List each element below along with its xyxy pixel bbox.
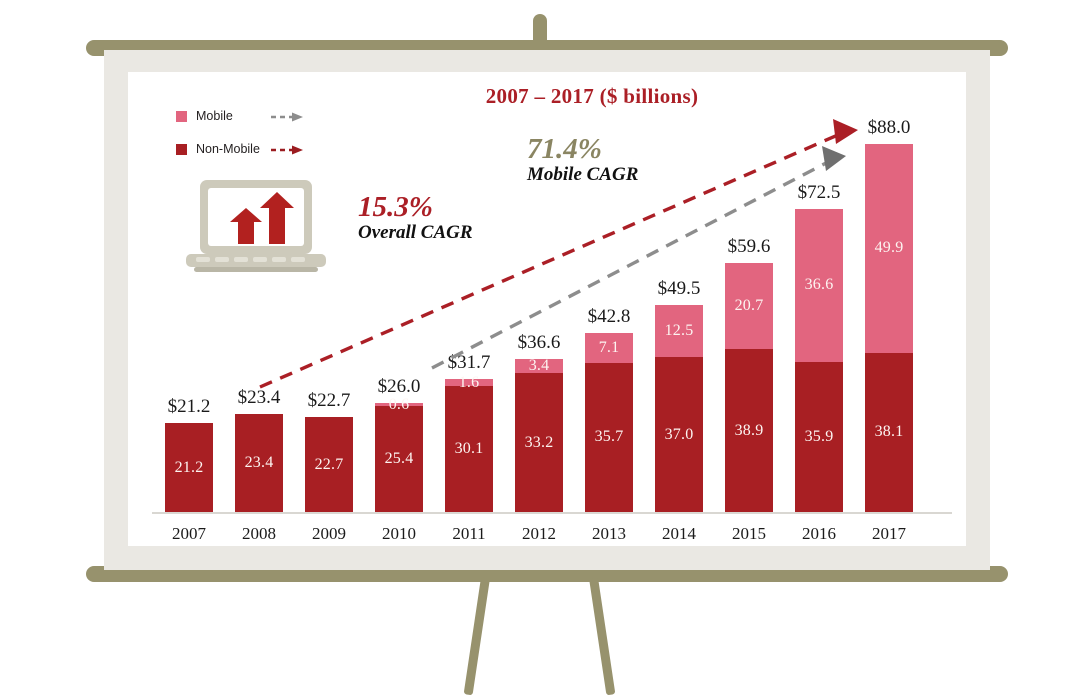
bar-value-mobile-2014: 12.5	[665, 322, 694, 340]
bar-value-non-mobile-2011: 30.1	[455, 440, 484, 458]
slide-canvas: Mobile Non-Mobile	[0, 0, 1080, 698]
bar-segment-non-mobile-2015[interactable]: 38.9	[725, 349, 773, 512]
bar-value-mobile-2016: 36.6	[805, 276, 834, 294]
bar-segment-non-mobile-2010[interactable]: 25.4	[375, 406, 423, 512]
x-axis-label-2012: 2012	[502, 524, 576, 544]
x-axis-label-2017: 2017	[852, 524, 926, 544]
x-axis-label-2009: 2009	[292, 524, 366, 544]
bar-segment-mobile-2011[interactable]: 1.6	[445, 379, 493, 386]
bar-group-2012[interactable]: $36.633.23.42012	[515, 359, 563, 512]
bar-segment-non-mobile-2007[interactable]: 21.2	[165, 423, 213, 512]
bar-segment-mobile-2015[interactable]: 20.7	[725, 263, 773, 350]
bar-segment-non-mobile-2013[interactable]: 35.7	[585, 363, 633, 512]
bar-group-2016[interactable]: $72.535.936.62016	[795, 209, 843, 512]
x-axis-label-2013: 2013	[572, 524, 646, 544]
x-axis-label-2016: 2016	[782, 524, 856, 544]
bar-value-non-mobile-2007: 21.2	[175, 459, 204, 477]
easel-leg-left	[464, 577, 490, 695]
bar-group-2007[interactable]: $21.221.22007	[165, 423, 213, 512]
bar-total-label-2016: $72.5	[778, 182, 860, 204]
bar-value-non-mobile-2012: 33.2	[525, 434, 554, 452]
bar-group-2008[interactable]: $23.423.42008	[235, 414, 283, 512]
bar-total-label-2014: $49.5	[638, 278, 720, 300]
bar-segment-mobile-2014[interactable]: 12.5	[655, 305, 703, 357]
bar-value-non-mobile-2009: 22.7	[315, 456, 344, 474]
bar-value-non-mobile-2014: 37.0	[665, 426, 694, 444]
bar-total-label-2015: $59.6	[708, 236, 790, 258]
bar-total-label-2012: $36.6	[498, 332, 580, 354]
bar-group-2011[interactable]: $31.730.11.62011	[445, 379, 493, 512]
bar-segment-non-mobile-2012[interactable]: 33.2	[515, 373, 563, 512]
bar-group-2010[interactable]: $26.025.40.62010	[375, 403, 423, 512]
bar-value-mobile-2010: 0.6	[389, 396, 410, 414]
bar-segment-mobile-2013[interactable]: 7.1	[585, 333, 633, 363]
easel-leg-right	[589, 577, 615, 695]
bar-total-label-2011: $31.7	[428, 352, 510, 374]
bar-value-non-mobile-2010: 25.4	[385, 450, 414, 468]
bar-segment-non-mobile-2009[interactable]: 22.7	[305, 417, 353, 512]
x-axis-label-2008: 2008	[222, 524, 296, 544]
x-axis-label-2010: 2010	[362, 524, 436, 544]
bar-group-2017[interactable]: $88.038.149.92017	[865, 144, 913, 512]
bar-group-2013[interactable]: $42.835.77.12013	[585, 333, 633, 512]
bar-segment-mobile-2012[interactable]: 3.4	[515, 359, 563, 373]
bar-value-mobile-2012: 3.4	[529, 357, 550, 375]
x-axis-label-2007: 2007	[152, 524, 226, 544]
bar-value-non-mobile-2016: 35.9	[805, 428, 834, 446]
x-axis-label-2014: 2014	[642, 524, 716, 544]
chart-plot-area: $21.221.22007$23.423.42008$22.722.72009$…	[128, 72, 966, 546]
bar-group-2014[interactable]: $49.537.012.52014	[655, 305, 703, 512]
x-axis-label-2011: 2011	[432, 524, 506, 544]
bar-segment-non-mobile-2017[interactable]: 38.1	[865, 353, 913, 512]
bar-value-mobile-2015: 20.7	[735, 297, 764, 315]
chart-baseline-axis	[152, 512, 952, 514]
bar-segment-mobile-2016[interactable]: 36.6	[795, 209, 843, 362]
bar-value-non-mobile-2017: 38.1	[875, 423, 904, 441]
bar-segment-non-mobile-2016[interactable]: 35.9	[795, 362, 843, 512]
bar-segment-non-mobile-2011[interactable]: 30.1	[445, 386, 493, 512]
bar-value-mobile-2017: 49.9	[875, 239, 904, 257]
bar-total-label-2017: $88.0	[848, 117, 930, 139]
bar-value-non-mobile-2008: 23.4	[245, 454, 274, 472]
bar-group-2009[interactable]: $22.722.72009	[305, 417, 353, 512]
bar-group-2015[interactable]: $59.638.920.72015	[725, 263, 773, 512]
bar-value-non-mobile-2013: 35.7	[595, 428, 624, 446]
bar-total-label-2013: $42.8	[568, 306, 650, 328]
bar-value-mobile-2013: 7.1	[599, 339, 620, 357]
bar-segment-non-mobile-2008[interactable]: 23.4	[235, 414, 283, 512]
bar-segment-mobile-2010[interactable]: 0.6	[375, 403, 423, 406]
bar-segment-mobile-2017[interactable]: 49.9	[865, 144, 913, 353]
x-axis-label-2015: 2015	[712, 524, 786, 544]
bar-segment-non-mobile-2014[interactable]: 37.0	[655, 357, 703, 512]
bar-value-non-mobile-2015: 38.9	[735, 422, 764, 440]
bar-value-mobile-2011: 1.6	[459, 374, 480, 392]
